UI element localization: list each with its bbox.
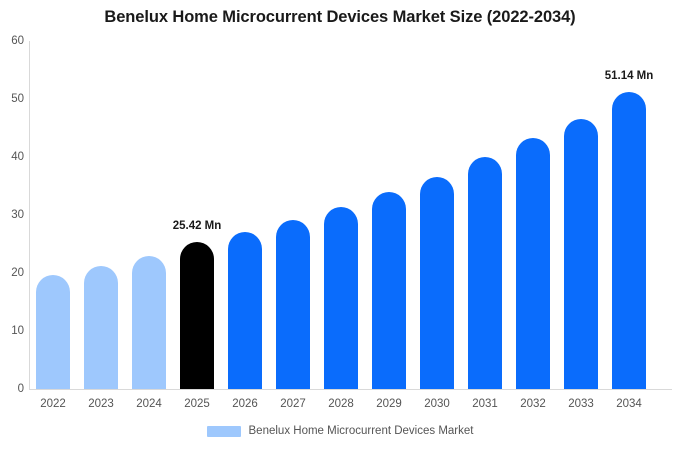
x-tick-label-2027: 2027 bbox=[269, 398, 317, 410]
bar-2033[interactable] bbox=[564, 119, 598, 389]
bar-2024[interactable] bbox=[132, 256, 166, 389]
x-tick-label-2026: 2026 bbox=[221, 398, 269, 410]
x-tick-label-2022: 2022 bbox=[29, 398, 77, 410]
y-tick-label: 60 bbox=[0, 35, 24, 47]
data-label-2025: 25.42 Mn bbox=[152, 220, 242, 232]
bar-2022[interactable] bbox=[36, 275, 70, 389]
data-label-2034: 51.14 Mn bbox=[584, 70, 674, 82]
x-tick-label-2032: 2032 bbox=[509, 398, 557, 410]
y-tick-label: 50 bbox=[0, 93, 24, 105]
y-tick-label: 10 bbox=[0, 325, 24, 337]
bar-2034[interactable] bbox=[612, 92, 646, 389]
legend-label-market: Benelux Home Microcurrent Devices Market bbox=[249, 425, 474, 437]
bar-2026[interactable] bbox=[228, 232, 262, 389]
x-tick-label-2025: 2025 bbox=[173, 398, 221, 410]
x-tick-label-2030: 2030 bbox=[413, 398, 461, 410]
y-tick-label: 0 bbox=[0, 383, 24, 395]
y-tick-label: 20 bbox=[0, 267, 24, 279]
x-tick-label-2031: 2031 bbox=[461, 398, 509, 410]
legend-swatch-market bbox=[207, 426, 241, 437]
x-tick-label-2023: 2023 bbox=[77, 398, 125, 410]
chart-legend: Benelux Home Microcurrent Devices Market bbox=[0, 425, 680, 437]
x-tick-label-2033: 2033 bbox=[557, 398, 605, 410]
bar-2030[interactable] bbox=[420, 177, 454, 389]
chart-container: Benelux Home Microcurrent Devices Market… bbox=[0, 0, 680, 450]
bar-2028[interactable] bbox=[324, 207, 358, 389]
x-tick-label-2034: 2034 bbox=[605, 398, 653, 410]
x-axis-line bbox=[29, 389, 672, 390]
bar-2025[interactable] bbox=[180, 242, 214, 389]
bar-2027[interactable] bbox=[276, 220, 310, 389]
bar-2023[interactable] bbox=[84, 266, 118, 389]
x-tick-label-2028: 2028 bbox=[317, 398, 365, 410]
bar-2032[interactable] bbox=[516, 138, 550, 389]
plot-area bbox=[29, 41, 672, 389]
bar-2031[interactable] bbox=[468, 157, 502, 389]
x-tick-label-2024: 2024 bbox=[125, 398, 173, 410]
x-tick-label-2029: 2029 bbox=[365, 398, 413, 410]
bar-2029[interactable] bbox=[372, 192, 406, 389]
chart-title: Benelux Home Microcurrent Devices Market… bbox=[0, 8, 680, 27]
y-tick-label: 40 bbox=[0, 151, 24, 163]
y-tick-label: 30 bbox=[0, 209, 24, 221]
